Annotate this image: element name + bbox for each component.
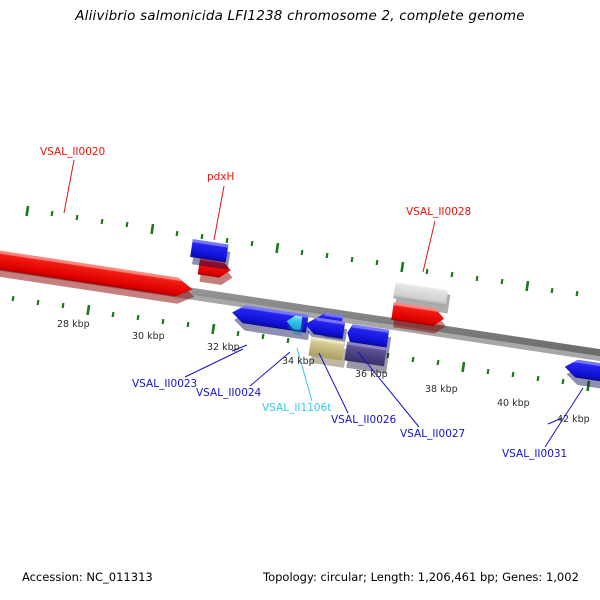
accession-label: Accession: NC_011313 bbox=[22, 570, 153, 584]
scale-label: 28 kbp bbox=[57, 319, 90, 330]
scale-label: 30 kbp bbox=[132, 331, 165, 342]
topology-label: Topology: circular; Length: 1,206,461 bp… bbox=[263, 570, 579, 584]
scale-label: 38 kbp bbox=[425, 384, 458, 395]
feature-label-VSAL_II1106t: VSAL_II1106t bbox=[262, 402, 331, 414]
leader-pdxH bbox=[214, 186, 224, 240]
feature-glyph-VSAL_II0020[interactable] bbox=[0, 248, 197, 306]
scale-label: 36 kbp bbox=[355, 369, 388, 380]
feature-label-VSAL_II0020: VSAL_II0020 bbox=[40, 146, 105, 158]
feature-label-VSAL_II0023: VSAL_II0023 bbox=[132, 378, 197, 390]
scale-label: 34 kbp bbox=[282, 356, 315, 367]
feature-label-VSAL_II0026: VSAL_II0026 bbox=[331, 414, 397, 426]
scale-label: 42 kbp bbox=[557, 414, 590, 425]
feature-label-VSAL_II0031: VSAL_II0031 bbox=[502, 448, 567, 460]
leader-VSAL_II0023 bbox=[185, 349, 243, 377]
feature-glyph-pdxH[interactable] bbox=[189, 239, 231, 270]
feature-label-VSAL_II0024: VSAL_II0024 bbox=[196, 387, 262, 399]
leader-VSAL_II0020 bbox=[64, 160, 74, 213]
scale-label: 32 kbp bbox=[207, 342, 240, 353]
status-bar: Accession: NC_011313 Topology: circular;… bbox=[0, 570, 600, 592]
feature-label-pdxH: pdxH bbox=[207, 171, 234, 183]
leader-VSAL_II0028 bbox=[423, 221, 435, 272]
feature-label-VSAL_II0028: VSAL_II0028 bbox=[406, 206, 471, 218]
feature-labels[interactable]: VSAL_II0020 pdxH VSAL_II0028 VSAL_II0023… bbox=[40, 146, 567, 460]
feature-glyph-VSAL_II0031[interactable] bbox=[562, 358, 600, 390]
genome-map-canvas[interactable]: 28 kbp 30 kbp 32 kbp 34 kbp 36 kbp 38 kb… bbox=[0, 0, 600, 600]
genome-map-viewer: Aliivibrio salmonicida LFI1238 chromosom… bbox=[0, 0, 600, 600]
feature-label-VSAL_II0027: VSAL_II0027 bbox=[400, 428, 465, 440]
scale-label: 40 kbp bbox=[497, 398, 530, 409]
